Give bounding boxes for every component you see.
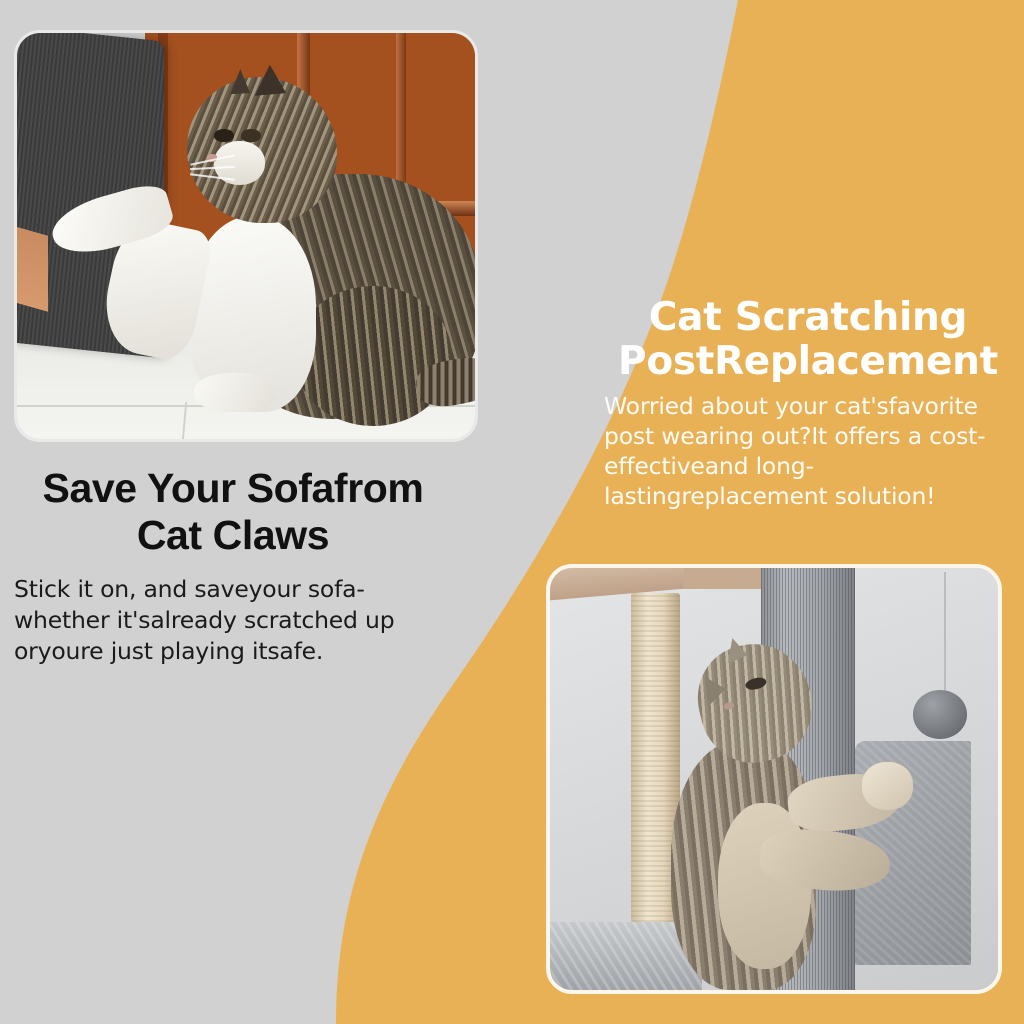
cat-paw xyxy=(862,762,913,810)
cat-ear-left xyxy=(691,671,727,707)
right-heading: Cat Scratching PostReplacement xyxy=(604,296,1012,383)
photo-scene-top xyxy=(17,33,475,439)
left-heading: Save Your Sofafrom Cat Claws xyxy=(14,465,452,558)
product-marketing-banner: Save Your Sofafrom Cat Claws Stick it on… xyxy=(0,0,1024,1024)
right-text-block: Cat Scratching PostReplacement Worried a… xyxy=(604,296,1012,512)
photo-cat-tree-post xyxy=(546,564,1002,994)
right-body-text: Worried about your cat'sfavorite post we… xyxy=(604,392,1012,511)
cat-ear-left xyxy=(228,69,251,94)
photo-scene-bottom xyxy=(550,568,998,990)
right-heading-line-2: PostReplacement xyxy=(604,340,1012,384)
cat-head xyxy=(187,77,337,224)
cat-haunch xyxy=(294,286,451,426)
pom-pom-ball-toy xyxy=(913,690,967,739)
left-body-text: Stick it on, and saveyour sofa-whether i… xyxy=(14,574,452,666)
cat-tabby-white xyxy=(109,70,466,419)
left-heading-line-2: Cat Claws xyxy=(14,512,452,559)
cat-nose xyxy=(723,701,734,710)
toy-string xyxy=(944,572,946,699)
right-heading-line-1: Cat Scratching xyxy=(604,296,1012,340)
cat-paw-front xyxy=(194,373,273,411)
cat-tabby-grey xyxy=(666,644,899,990)
cat-ear-right xyxy=(255,65,287,97)
cat-eye xyxy=(745,676,767,691)
cat-eye xyxy=(241,129,261,142)
left-text-block: Save Your Sofafrom Cat Claws Stick it on… xyxy=(14,465,452,666)
left-heading-line-1: Save Your Sofafrom xyxy=(14,465,452,512)
photo-cat-scratching-mat xyxy=(14,30,478,442)
cat-eye xyxy=(214,129,234,142)
scratching-mat-cardboard-edge xyxy=(17,224,48,311)
